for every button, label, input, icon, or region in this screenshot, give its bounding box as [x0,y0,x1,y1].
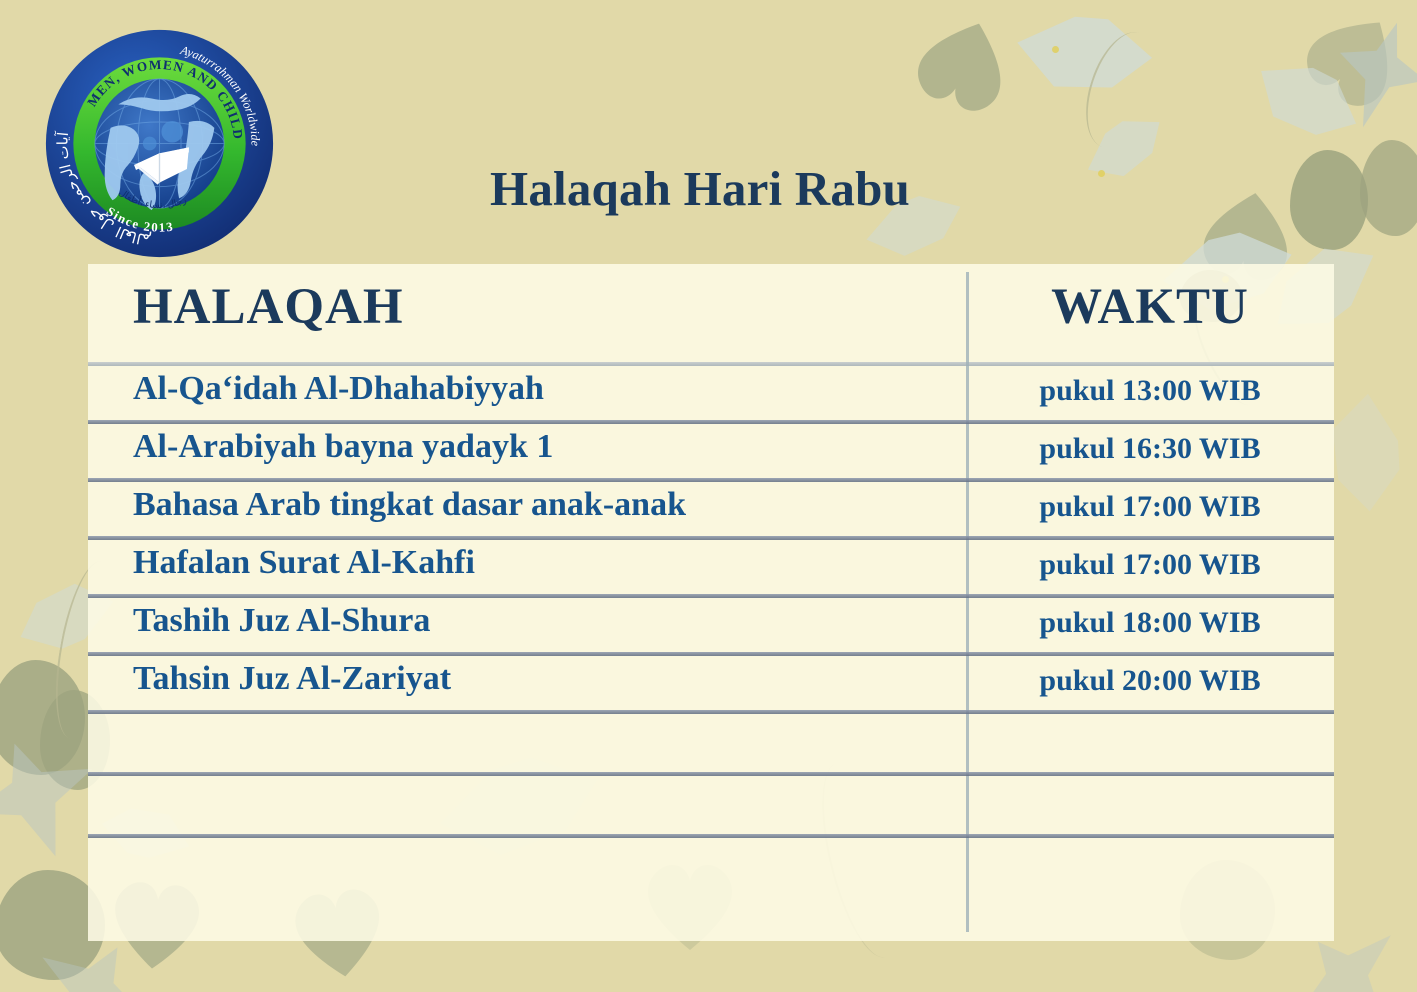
cell-halaqah: Al-Qaʻidah Al-Dhahabiyyah [133,370,544,408]
cell-halaqah: Hafalan Surat Al-Kahfi [133,544,475,582]
flower-shape [995,0,1165,134]
globe-accent [161,121,183,143]
table-row-empty[interactable] [88,838,1334,900]
seed-pod-shape [0,660,85,775]
column-header-waktu: WAKTU [966,278,1334,336]
cell-waktu: pukul 13:00 WIB [966,374,1334,408]
page-title: Halaqah Hari Rabu [300,160,1100,217]
leaf-shape [1268,0,1417,129]
globe-accent [143,137,157,151]
cell-waktu: pukul 17:00 WIB [966,490,1334,524]
table-row[interactable]: Bahasa Arab tingkat dasar anak-anak puku… [88,482,1334,540]
table-row[interactable]: Tahsin Juz Al-Zariyat pukul 20:00 WIB [88,656,1334,714]
seed-pod-shape [1290,150,1368,250]
cell-waktu: pukul 20:00 WIB [966,664,1334,698]
table-row-empty[interactable] [88,714,1334,776]
cell-waktu: pukul 16:30 WIB [966,432,1334,466]
table-row[interactable]: Al-Qaʻidah Al-Dhahabiyyah pukul 13:00 WI… [88,366,1334,424]
table-row[interactable]: Tashih Juz Al-Shura pukul 18:00 WIB [88,598,1334,656]
spike-leaf-shape [1320,9,1417,141]
cell-waktu: pukul 17:00 WIB [966,548,1334,582]
table-row[interactable]: Al-Arabiyah bayna yadayk 1 pukul 16:30 W… [88,424,1334,482]
schedule-table-panel: HALAQAH WAKTU Al-Qaʻidah Al-Dhahabiyyah … [88,264,1334,941]
organization-logo: MEN, WOMEN AND CHILDREN رجال ،نساء ،أطفا… [42,26,277,261]
cell-halaqah: Tashih Juz Al-Shura [133,602,430,640]
table-row[interactable]: Hafalan Surat Al-Kahfi pukul 17:00 WIB [88,540,1334,598]
flower-center-dot [1052,46,1059,53]
leaf-shape [862,0,1038,130]
cell-halaqah: Al-Arabiyah bayna yadayk 1 [133,428,553,466]
stem-shape [1073,23,1169,156]
cell-halaqah: Bahasa Arab tingkat dasar anak-anak [133,486,686,524]
table-header-row: HALAQAH WAKTU [88,264,1334,362]
column-header-halaqah: HALAQAH [133,278,404,336]
flower-shape [1224,34,1377,181]
cell-waktu: pukul 18:00 WIB [966,606,1334,640]
schedule-rows: Al-Qaʻidah Al-Dhahabiyyah pukul 13:00 WI… [88,366,1334,900]
cell-halaqah: Tahsin Juz Al-Zariyat [133,660,451,698]
seed-pod-shape [1360,140,1417,236]
table-row-empty[interactable] [88,776,1334,838]
